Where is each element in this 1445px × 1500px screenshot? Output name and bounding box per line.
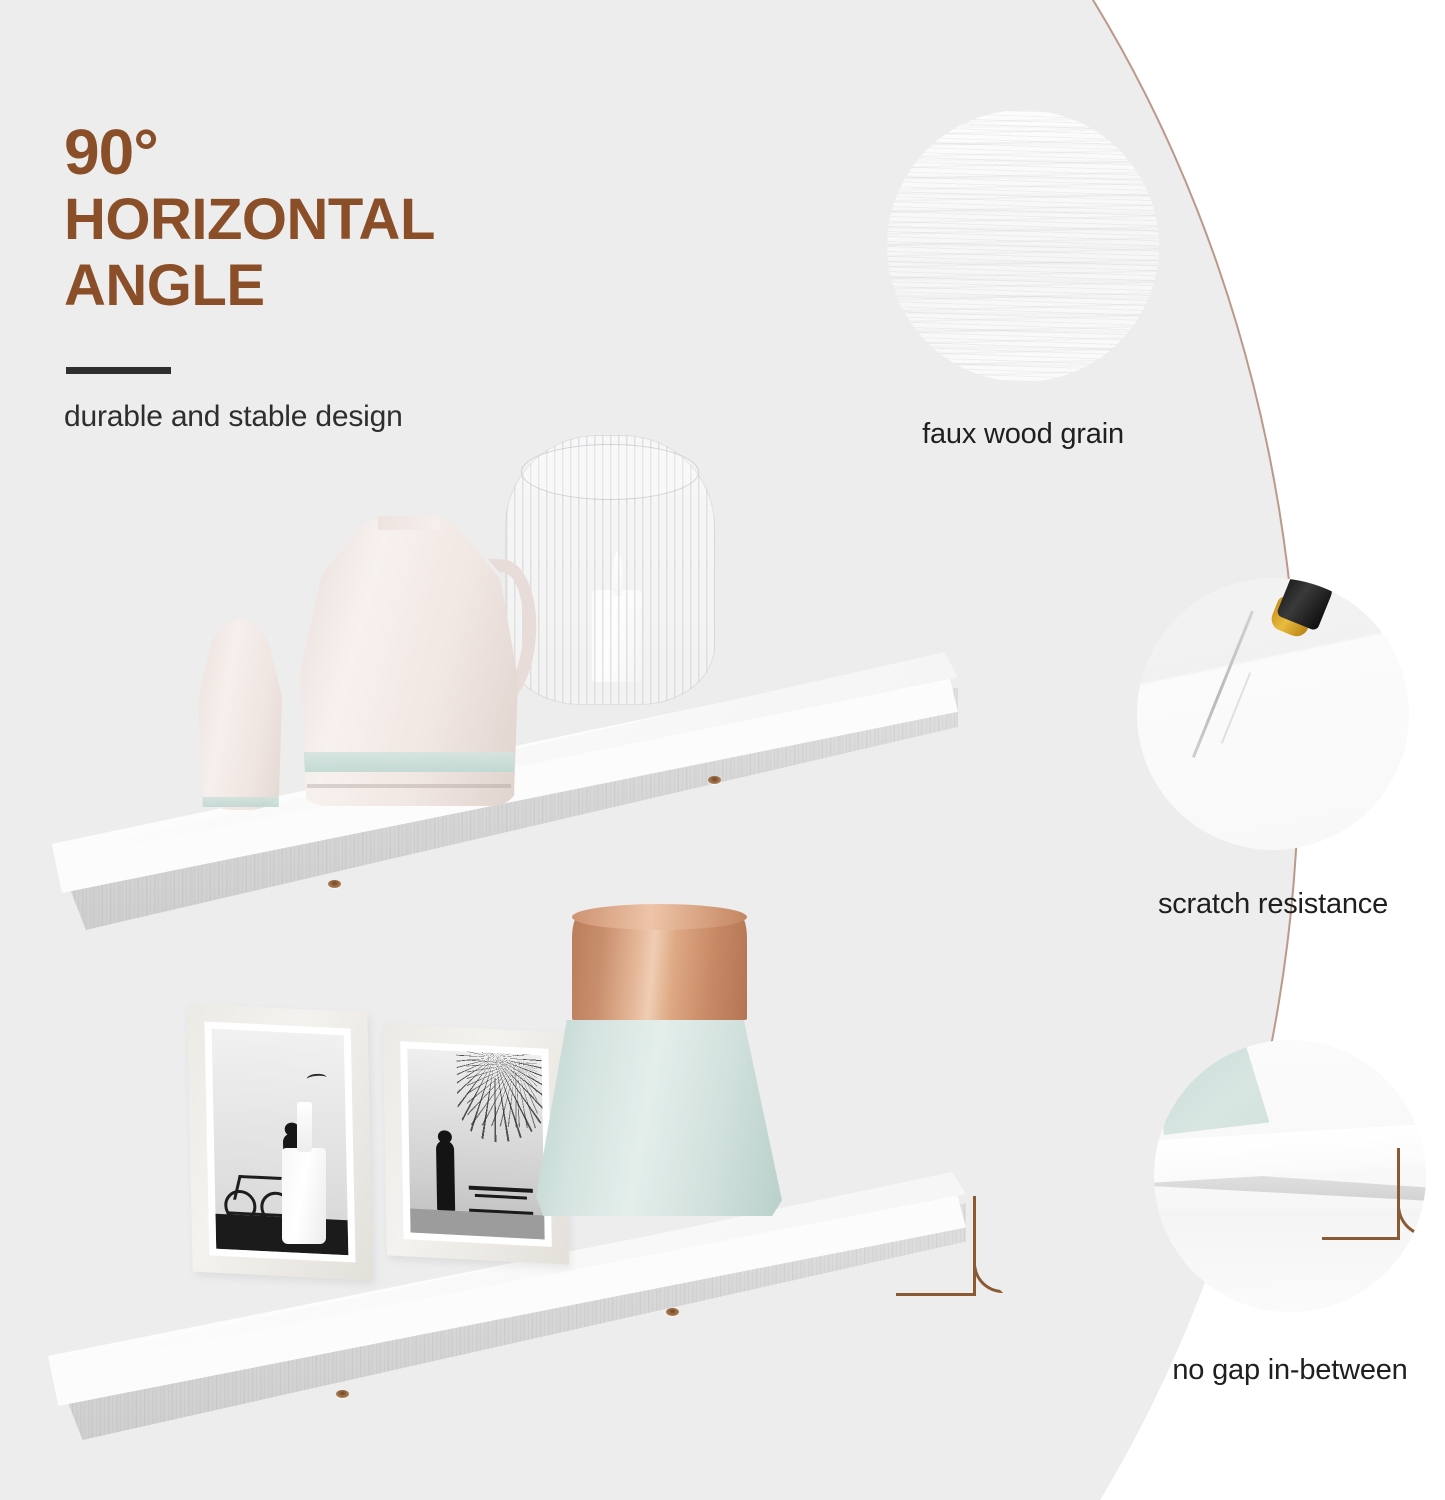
scratch-mark: [1221, 673, 1251, 744]
angle-vertical-leg: [1397, 1148, 1400, 1240]
headline-block: 90° HORIZONTAL ANGLE durable and stable …: [64, 120, 624, 434]
callout-no-gap: no gap in-between: [1135, 1040, 1445, 1387]
screwdriver-scratch-icon: [1137, 578, 1409, 850]
right-angle-marker: [1322, 1148, 1400, 1240]
product-infographic: 90° HORIZONTAL ANGLE durable and stable …: [0, 0, 1445, 1500]
callout-label: no gap in-between: [1135, 1354, 1445, 1387]
headline-subtitle: durable and stable design: [64, 400, 624, 434]
callout-label: scratch resistance: [1105, 888, 1441, 921]
callout-label: faux wood grain: [873, 418, 1173, 451]
callout-faux-wood-grain: faux wood grain: [873, 110, 1173, 451]
callout-scratch-resistance: scratch resistance: [1105, 578, 1441, 921]
headline-degree: 90°: [64, 120, 624, 185]
headline-divider-rule: [66, 367, 171, 374]
headline-line-1: HORIZONTAL: [64, 189, 624, 251]
wood-grain-swatch-icon: [887, 110, 1159, 382]
headline-line-2: ANGLE: [64, 255, 624, 317]
shelf-cross-section-icon: [1154, 1040, 1426, 1312]
angle-horizontal-leg: [1322, 1237, 1400, 1240]
